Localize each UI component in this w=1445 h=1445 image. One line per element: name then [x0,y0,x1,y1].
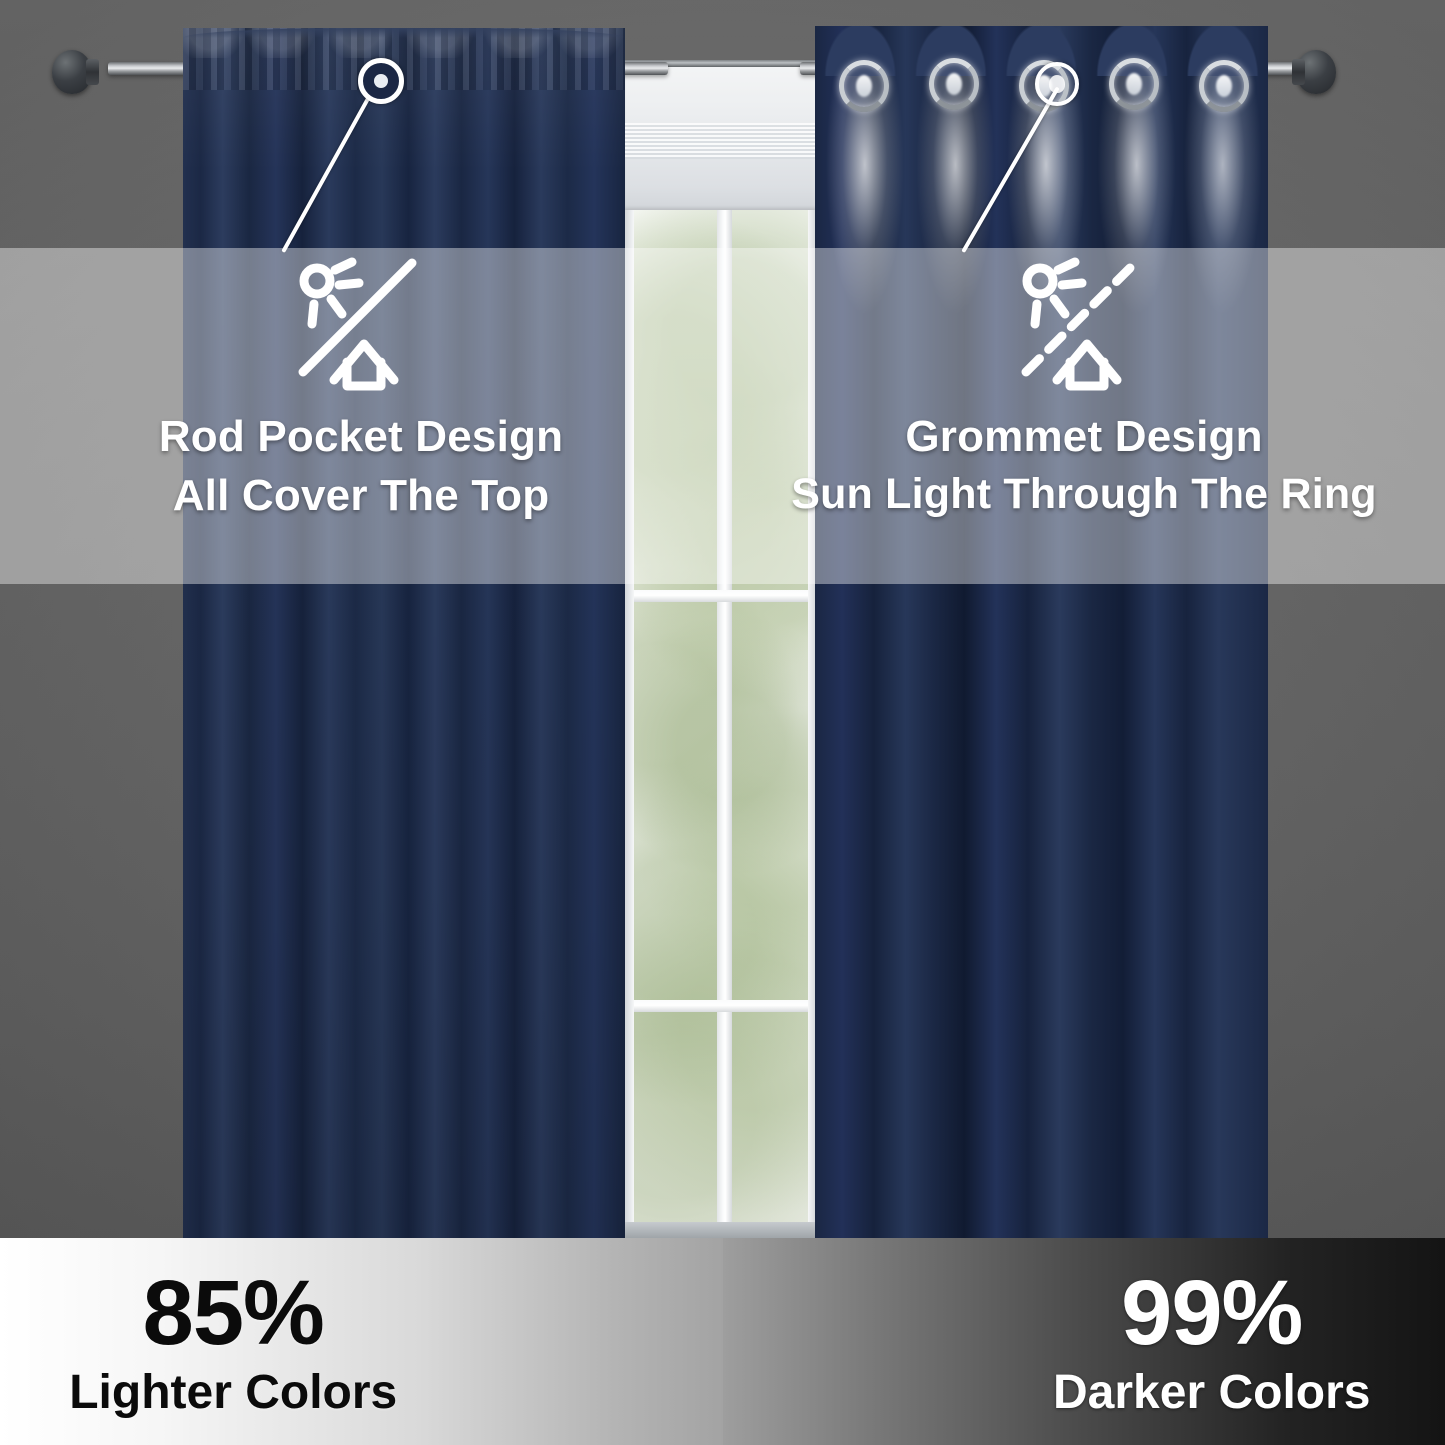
banner-darker-colors: 99% Darker Colors [723,1238,1445,1445]
curtain-panel-rod-pocket [183,28,625,1240]
callout-marker-grommet [1035,62,1079,106]
feature-text-rod-pocket: Rod Pocket Design All Cover The Top [159,411,563,521]
feature-line-2: All Cover The Top [159,470,563,521]
curtain-panel-grommet [815,26,1268,1240]
blackout-rate-banner: 85% Lighter Colors 99% Darker Colors [0,1238,1445,1445]
finial-collar [86,59,99,85]
grommet-ring-4 [1109,58,1159,110]
sun-through-house-icon [1009,252,1159,397]
feature-block-grommet: Grommet Design Sun Light Through The Rin… [723,248,1445,584]
feature-line-1: Grommet Design [791,411,1377,462]
grommet-hole-icon [1126,73,1142,95]
feature-block-rod-pocket: Rod Pocket Design All Cover The Top [0,248,722,584]
feature-line-2: Sun Light Through The Ring [791,470,1377,520]
window-mullion-horizontal-lower [624,1000,818,1012]
grommet-ring-1 [839,60,889,112]
finial-collar [1292,59,1305,85]
feature-text-grommet: Grommet Design Sun Light Through The Rin… [791,411,1377,520]
rod-pocket-top-edge [183,28,625,38]
window [624,60,818,1240]
grommet-hole-icon [856,75,872,97]
window-sheer-valance [624,60,818,210]
banner-label: Lighter Colors [69,1369,397,1417]
product-infographic: Rod Pocket Design All Cover The Top [0,0,1445,1445]
callout-dot-core-icon [1049,75,1065,93]
banner-percent: 85% [69,1267,397,1359]
banner-lighter-colors: 85% Lighter Colors [0,1238,723,1445]
callout-marker-rod-pocket [358,58,404,104]
banner-label: Darker Colors [1053,1369,1370,1417]
banner-percent: 99% [1053,1267,1370,1359]
finial-right [1296,50,1340,100]
feature-line-1: Rod Pocket Design [159,411,563,462]
grommet-hole-icon [946,73,962,95]
curtain-shading-left [183,28,625,1240]
grommet-ring-5 [1199,60,1249,112]
window-mullion-horizontal-upper [624,590,818,602]
finial-left [52,50,96,100]
feature-overlay-band: Rod Pocket Design All Cover The Top [0,248,1445,584]
callout-dot-core-icon [374,74,388,88]
sun-blocked-house-icon [286,252,436,397]
grommet-ring-2 [929,58,979,110]
grommet-hole-icon [1216,75,1232,97]
